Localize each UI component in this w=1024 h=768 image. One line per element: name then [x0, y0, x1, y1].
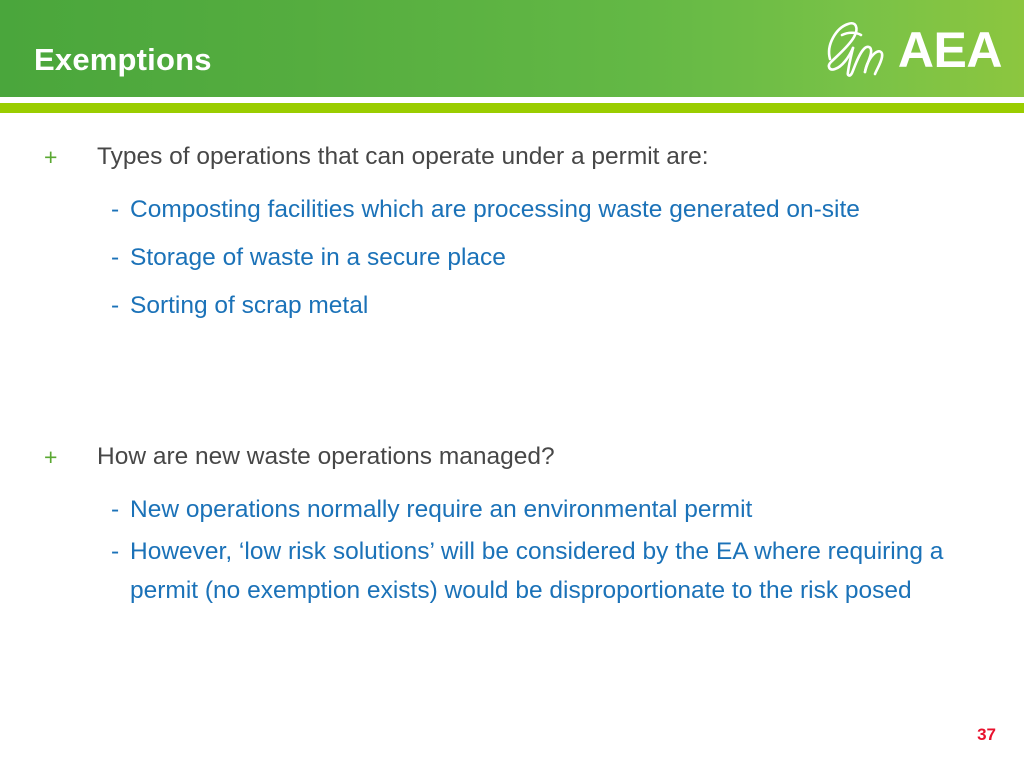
dash-bullet-icon: - [111, 238, 130, 277]
sub-bullet-list-2: - New operations normally require an env… [0, 490, 1024, 610]
sub-bullet-list-1: - Composting facilities which are proces… [0, 190, 1024, 325]
bullet-level2-text: Storage of waste in a secure place [130, 238, 506, 277]
slide-body: + Types of operations that can operate u… [0, 113, 1024, 768]
bullet-level2-text: Composting facilities which are processi… [130, 190, 860, 229]
bullet-level2-text: However, ‘low risk solutions’ will be co… [130, 532, 968, 610]
header-divider-lime [0, 103, 1024, 113]
bullet-level2-text: Sorting of scrap metal [130, 286, 368, 325]
slide-header-band: Exemptions AEA [0, 0, 1024, 97]
aea-logo-text: AEA [898, 25, 1002, 75]
plus-bullet-icon: + [44, 140, 97, 174]
bullet-level1-1-text: Types of operations that can operate und… [97, 140, 709, 174]
slide: Exemptions AEA + Types of operations tha… [0, 0, 1024, 768]
content-block-1: + Types of operations that can operate u… [0, 140, 1024, 325]
bullet-level2-item: - New operations normally require an env… [0, 490, 1024, 529]
dash-bullet-icon: - [111, 532, 130, 571]
bullet-level2-item: - Sorting of scrap metal [0, 286, 1024, 325]
bullet-level2-item: - Composting facilities which are proces… [0, 190, 1024, 229]
dash-bullet-icon: - [111, 190, 130, 229]
bullet-level1-1: + Types of operations that can operate u… [0, 140, 1024, 174]
aea-logo: AEA [820, 12, 1002, 84]
bullet-level1-2-text: How are new waste operations managed? [97, 440, 555, 474]
content-block-2: + How are new waste operations managed? … [0, 440, 1024, 610]
plus-bullet-icon: + [44, 440, 97, 474]
page-title: Exemptions [34, 44, 212, 75]
bullet-level1-2: + How are new waste operations managed? [0, 440, 1024, 474]
bullet-level2-item: - However, ‘low risk solutions’ will be … [0, 532, 1024, 610]
bullet-level2-item: - Storage of waste in a secure place [0, 238, 1024, 277]
bullet-level2-text: New operations normally require an envir… [130, 490, 752, 529]
aea-swirl-icon [820, 15, 892, 81]
page-number: 37 [977, 726, 996, 743]
dash-bullet-icon: - [111, 286, 130, 325]
dash-bullet-icon: - [111, 490, 130, 529]
